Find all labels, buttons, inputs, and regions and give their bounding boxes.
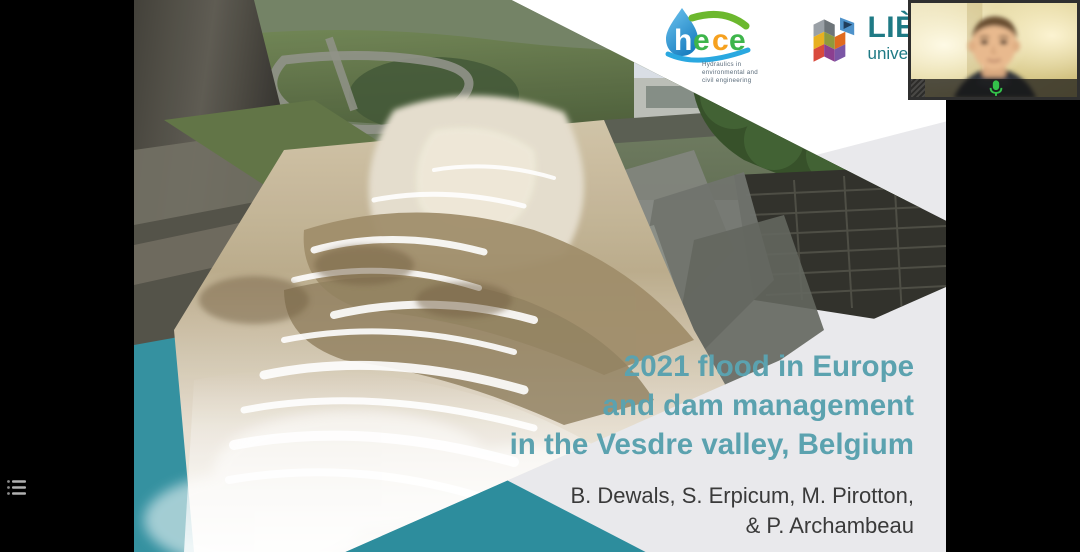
author-line-1: B. Dewals, S. Erpicum, M. Pirotton, xyxy=(570,481,914,511)
svg-text:c: c xyxy=(712,24,729,57)
presentation-slide: h e c e Hydraulics in environmental and … xyxy=(134,0,946,552)
slide-title: 2021 flood in Europe and dam management … xyxy=(510,348,914,465)
participant-video-tile[interactable]: Benjamin Dewals xyxy=(908,0,1080,100)
hece-logo: h e c e Hydraulics in environmental and … xyxy=(658,6,774,84)
title-line-3: in the Vesdre valley, Belgium xyxy=(510,426,914,465)
hece-tagline-line2: environmental and xyxy=(702,69,758,76)
uliege-mark-icon xyxy=(810,9,859,65)
slide-authors: B. Dewals, S. Erpicum, M. Pirotton, & P.… xyxy=(570,481,914,540)
hece-tagline-line1: Hydraulics in xyxy=(702,61,742,68)
microphone-icon xyxy=(915,79,1077,97)
title-line-2: and dam management xyxy=(510,387,914,426)
svg-text:e: e xyxy=(693,24,710,57)
svg-text:e: e xyxy=(729,24,746,57)
list-view-icon[interactable] xyxy=(6,478,28,498)
participant-name-label: Benjamin Dewals xyxy=(911,79,1077,97)
hece-tagline-line3: civil engineering xyxy=(702,77,752,84)
title-line-1: 2021 flood in Europe xyxy=(510,348,914,387)
screen-root: h e c e Hydraulics in environmental and … xyxy=(0,0,1080,552)
author-line-2: & P. Archambeau xyxy=(570,511,914,541)
logo-row: h e c e Hydraulics in environmental and … xyxy=(658,6,946,84)
svg-text:h: h xyxy=(674,24,692,57)
